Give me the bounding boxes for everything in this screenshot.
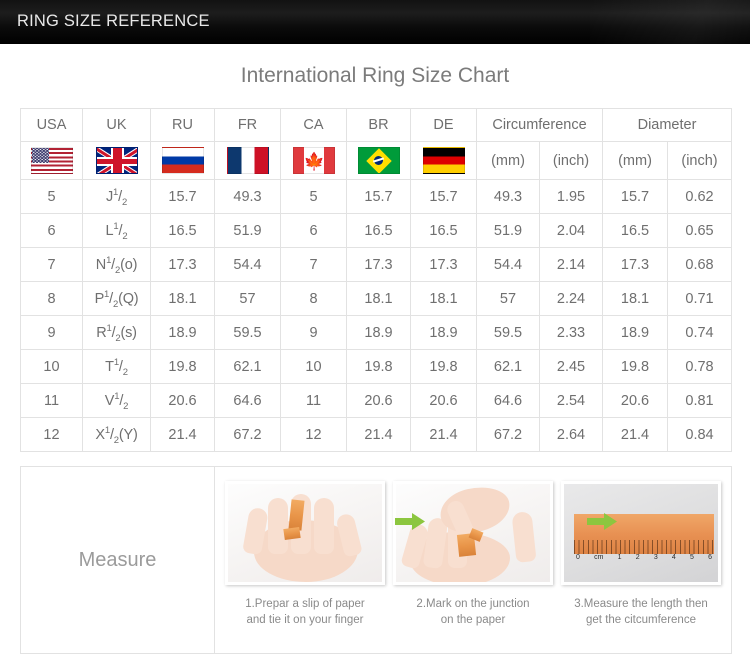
cell-br: 16.5 — [347, 214, 411, 248]
ruler-tick-label: cm — [594, 554, 603, 561]
table-row: 5J1/215.749.3515.715.749.31.9515.70.62 — [21, 180, 732, 214]
column-header-usa: USA — [21, 109, 83, 142]
flag-united-states-icon — [31, 147, 73, 174]
cell-fr: 57 — [215, 282, 281, 316]
flag-cell-br — [347, 142, 411, 180]
cell-ca: 7 — [281, 248, 347, 282]
step-1-caption: 1.Prepar a slip of paper and tie it on y… — [221, 597, 389, 628]
cell-diam-inch: 0.68 — [668, 248, 732, 282]
flag-cell-usa — [21, 142, 83, 180]
cell-ru: 20.6 — [151, 384, 215, 418]
cell-fr: 59.5 — [215, 316, 281, 350]
cell-diam-mm: 17.3 — [603, 248, 668, 282]
cell-ru: 17.3 — [151, 248, 215, 282]
flag-cell-ca: 🍁 — [281, 142, 347, 180]
cell-de: 15.7 — [411, 180, 477, 214]
ruler-tick-label: 2 — [636, 554, 640, 561]
column-header-circumference: Circumference — [477, 109, 603, 142]
measure-step-1: 1.Prepar a slip of paper and tie it on y… — [221, 481, 389, 628]
cell-diam-mm: 20.6 — [603, 384, 668, 418]
cell-fr: 62.1 — [215, 350, 281, 384]
cell-circ-inch: 2.54 — [540, 384, 603, 418]
cell-diam-inch: 0.71 — [668, 282, 732, 316]
banner-sheen — [590, 0, 750, 44]
top-banner: RING SIZE REFERENCE — [0, 0, 750, 44]
cell-uk: X1/2(Y) — [83, 418, 151, 452]
ruler-tick-label: 1 — [618, 554, 622, 561]
cell-usa: 5 — [21, 180, 83, 214]
measure-section: Measure — [20, 466, 732, 654]
arrow-right-icon — [395, 513, 425, 530]
cell-uk: V1/2 — [83, 384, 151, 418]
cell-circ-mm: 62.1 — [477, 350, 540, 384]
step-3-caption: 3.Measure the length then get the citcum… — [557, 597, 725, 628]
flag-brazil-icon — [358, 147, 400, 174]
cell-diam-inch: 0.78 — [668, 350, 732, 384]
ruler-tick-label: 4 — [672, 554, 676, 561]
cell-br: 18.1 — [347, 282, 411, 316]
cell-circ-inch: 2.14 — [540, 248, 603, 282]
maple-leaf-icon: 🍁 — [294, 148, 335, 174]
cell-fr: 49.3 — [215, 180, 281, 214]
step-3-photo: 0cm123456 — [561, 481, 721, 585]
cell-fr: 51.9 — [215, 214, 281, 248]
ring-size-reference-page: RING SIZE REFERENCE International Ring S… — [0, 0, 750, 656]
cell-br: 15.7 — [347, 180, 411, 214]
column-header-ca: CA — [281, 109, 347, 142]
cell-diam-mm: 16.5 — [603, 214, 668, 248]
flag-canada-icon: 🍁 — [293, 147, 335, 174]
step-2-photo — [393, 481, 553, 585]
cell-diam-inch: 0.65 — [668, 214, 732, 248]
unit-circumference-mm: (mm) — [477, 142, 540, 180]
cell-de: 16.5 — [411, 214, 477, 248]
cell-uk: R1/2(s) — [83, 316, 151, 350]
cell-br: 20.6 — [347, 384, 411, 418]
cell-diam-inch: 0.84 — [668, 418, 732, 452]
column-header-br: BR — [347, 109, 411, 142]
page-title: International Ring Size Chart — [0, 64, 750, 88]
cell-de: 19.8 — [411, 350, 477, 384]
table-row: 7N1/2(o)17.354.4717.317.354.42.1417.30.6… — [21, 248, 732, 282]
cell-ru: 18.1 — [151, 282, 215, 316]
unit-diameter-mm: (mm) — [603, 142, 668, 180]
ring-size-table: USA UK RU FR CA BR DE Circumference Diam… — [20, 108, 732, 452]
column-header-diameter: Diameter — [603, 109, 732, 142]
cell-ru: 15.7 — [151, 180, 215, 214]
cell-circ-mm: 64.6 — [477, 384, 540, 418]
column-header-fr: FR — [215, 109, 281, 142]
cell-usa: 12 — [21, 418, 83, 452]
measure-row: Measure — [21, 467, 732, 654]
cell-ru: 18.9 — [151, 316, 215, 350]
cell-diam-mm: 19.8 — [603, 350, 668, 384]
cell-uk: J1/2 — [83, 180, 151, 214]
cell-circ-inch: 1.95 — [540, 180, 603, 214]
cell-br: 21.4 — [347, 418, 411, 452]
table-row: 9R1/2(s)18.959.5918.918.959.52.3318.90.7… — [21, 316, 732, 350]
arrow-right-icon — [587, 513, 617, 530]
us-canton — [32, 148, 49, 163]
ruler-tick-labels: 0cm123456 — [574, 554, 714, 561]
measure-steps: 1.Prepar a slip of paper and tie it on y… — [215, 467, 731, 653]
flag-germany-icon — [423, 147, 465, 174]
table-row: 6L1/216.551.9616.516.551.92.0416.50.65 — [21, 214, 732, 248]
step-2-caption: 2.Mark on the junction on the paper — [389, 597, 557, 628]
cell-usa: 6 — [21, 214, 83, 248]
cell-usa: 9 — [21, 316, 83, 350]
cell-circ-mm: 51.9 — [477, 214, 540, 248]
cell-circ-inch: 2.04 — [540, 214, 603, 248]
cell-circ-mm: 67.2 — [477, 418, 540, 452]
measure-step-3: 0cm123456 3.Measure the length then get … — [557, 481, 725, 628]
ruler-tick-label: 0 — [576, 554, 580, 561]
cell-diam-mm: 18.1 — [603, 282, 668, 316]
cell-de: 18.9 — [411, 316, 477, 350]
table-row: 12X1/2(Y)21.467.21221.421.467.22.6421.40… — [21, 418, 732, 452]
table-row: 8P1/2(Q)18.157818.118.1572.2418.10.71 — [21, 282, 732, 316]
cell-usa: 11 — [21, 384, 83, 418]
unit-diameter-inch: (inch) — [668, 142, 732, 180]
cell-diam-inch: 0.81 — [668, 384, 732, 418]
cell-de: 20.6 — [411, 384, 477, 418]
cell-br: 19.8 — [347, 350, 411, 384]
table-header-row: USA UK RU FR CA BR DE Circumference Diam… — [21, 109, 732, 142]
cell-usa: 8 — [21, 282, 83, 316]
measure-step-2: 2.Mark on the junction on the paper — [389, 481, 557, 628]
cell-circ-mm: 54.4 — [477, 248, 540, 282]
flag-cell-ru — [151, 142, 215, 180]
cell-de: 17.3 — [411, 248, 477, 282]
flag-russia-icon — [162, 147, 204, 174]
cell-usa: 10 — [21, 350, 83, 384]
cell-uk: P1/2(Q) — [83, 282, 151, 316]
cell-usa: 7 — [21, 248, 83, 282]
cell-de: 18.1 — [411, 282, 477, 316]
cell-uk: N1/2(o) — [83, 248, 151, 282]
cell-diam-mm: 21.4 — [603, 418, 668, 452]
cell-uk: T1/2 — [83, 350, 151, 384]
cell-ca: 12 — [281, 418, 347, 452]
cell-circ-mm: 49.3 — [477, 180, 540, 214]
cell-circ-inch: 2.64 — [540, 418, 603, 452]
cell-circ-inch: 2.45 — [540, 350, 603, 384]
cell-br: 18.9 — [347, 316, 411, 350]
cell-ru: 16.5 — [151, 214, 215, 248]
cell-ca: 9 — [281, 316, 347, 350]
measure-label: Measure — [21, 467, 215, 654]
cell-ca: 6 — [281, 214, 347, 248]
cell-ca: 11 — [281, 384, 347, 418]
cell-br: 17.3 — [347, 248, 411, 282]
column-header-de: DE — [411, 109, 477, 142]
step-1-photo — [225, 481, 385, 585]
cell-circ-inch: 2.24 — [540, 282, 603, 316]
unit-circumference-inch: (inch) — [540, 142, 603, 180]
measure-steps-cell: 1.Prepar a slip of paper and tie it on y… — [215, 467, 732, 654]
cell-ca: 10 — [281, 350, 347, 384]
flag-united-kingdom-icon — [96, 147, 138, 174]
cell-uk: L1/2 — [83, 214, 151, 248]
cell-circ-mm: 57 — [477, 282, 540, 316]
column-header-uk: UK — [83, 109, 151, 142]
banner-title: RING SIZE REFERENCE — [17, 12, 210, 31]
ruler-tick-label: 3 — [654, 554, 658, 561]
ruler-tick-label: 6 — [708, 554, 712, 561]
table-row: 10T1/219.862.11019.819.862.12.4519.80.78 — [21, 350, 732, 384]
flag-cell-fr — [215, 142, 281, 180]
cell-circ-mm: 59.5 — [477, 316, 540, 350]
cell-ru: 19.8 — [151, 350, 215, 384]
cell-ca: 8 — [281, 282, 347, 316]
cell-ru: 21.4 — [151, 418, 215, 452]
flag-cell-de — [411, 142, 477, 180]
cell-diam-mm: 18.9 — [603, 316, 668, 350]
cell-diam-mm: 15.7 — [603, 180, 668, 214]
cell-fr: 64.6 — [215, 384, 281, 418]
cell-fr: 54.4 — [215, 248, 281, 282]
table-row: 11V1/220.664.61120.620.664.62.5420.60.81 — [21, 384, 732, 418]
cell-ca: 5 — [281, 180, 347, 214]
flag-cell-uk — [83, 142, 151, 180]
cell-diam-inch: 0.62 — [668, 180, 732, 214]
cell-circ-inch: 2.33 — [540, 316, 603, 350]
flag-france-icon — [227, 147, 269, 174]
cell-de: 21.4 — [411, 418, 477, 452]
cell-fr: 67.2 — [215, 418, 281, 452]
ruler-tick-label: 5 — [690, 554, 694, 561]
table-flag-row: 🍁 (mm) (inch) (mm) (inch) — [21, 142, 732, 180]
column-header-ru: RU — [151, 109, 215, 142]
cell-diam-inch: 0.74 — [668, 316, 732, 350]
